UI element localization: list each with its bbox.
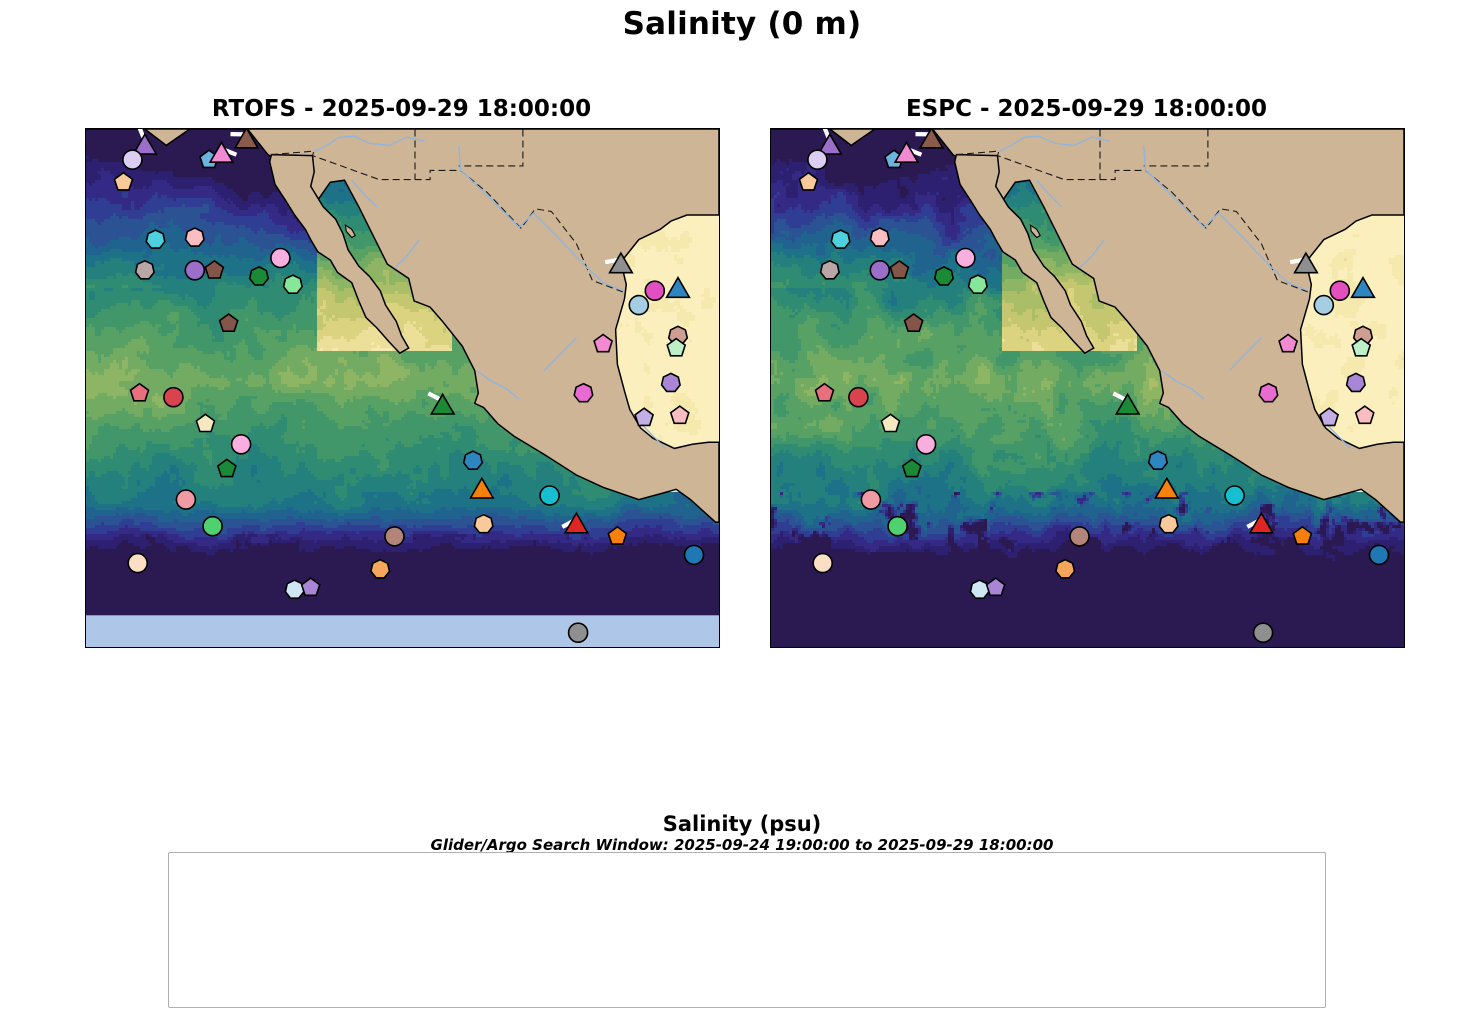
map-marker-4903743b[interactable]: [232, 435, 251, 454]
map-marker-4903516[interactable]: [385, 527, 404, 546]
map-marker-5907056[interactable]: [1225, 486, 1244, 505]
map-marker-4902328[interactable]: [250, 267, 269, 285]
panel-title-rtofs: RTOFS - 2025-09-29 18:00:00: [85, 96, 718, 122]
map-marker-4902475[interactable]: [969, 275, 988, 293]
panel-title-espc: ESPC - 2025-09-29 18:00:00: [770, 96, 1403, 122]
map-marker-2904010[interactable]: [629, 296, 648, 315]
colorbar: [104, 757, 1384, 789]
map-marker-3902386b[interactable]: [474, 515, 493, 533]
map-marker-4903195[interactable]: [870, 261, 889, 280]
map-marker-4903195[interactable]: [185, 261, 204, 280]
map-marker-4903181[interactable]: [849, 388, 868, 407]
map-marker-4903548[interactable]: [645, 281, 664, 300]
map-panel-rtofs[interactable]: [85, 128, 720, 648]
map-marker-1902692[interactable]: [685, 545, 704, 564]
map-marker-7901100[interactable]: [146, 230, 165, 248]
map-marker-4903184[interactable]: [861, 490, 880, 509]
colorbar-gradient: [104, 757, 1384, 789]
map-marker-4903551[interactable]: [574, 384, 593, 402]
map-marker-4903743[interactable]: [956, 249, 975, 268]
nodata-band: [86, 615, 719, 647]
map-marker-3902277[interactable]: [285, 580, 304, 598]
map-marker-4903743[interactable]: [271, 249, 290, 268]
map-marker-4903551[interactable]: [1259, 384, 1278, 402]
map-marker-4902328[interactable]: [935, 267, 954, 285]
map-marker-4903232b[interactable]: [1347, 373, 1366, 391]
map-marker-4903548[interactable]: [1330, 281, 1349, 300]
map-marker-2904010[interactable]: [1314, 296, 1333, 315]
map-marker-4903232b[interactable]: [662, 373, 681, 391]
figure-title: Salinity (0 m): [0, 6, 1484, 42]
map-marker-4903181[interactable]: [164, 388, 183, 407]
map-marker-4903185[interactable]: [186, 228, 205, 246]
map-field-rtofs: [86, 129, 719, 647]
map-marker-7901100[interactable]: [831, 230, 850, 248]
map-marker-5906090[interactable]: [569, 623, 588, 642]
colorbar-label: Salinity (psu): [0, 812, 1484, 836]
map-marker-1902692[interactable]: [1370, 545, 1389, 564]
map-marker-4902316[interactable]: [813, 554, 832, 573]
map-marker-5906183[interactable]: [821, 261, 840, 279]
marker-legend: [168, 852, 1326, 1008]
map-marker-4903743b[interactable]: [917, 435, 936, 454]
map-marker-4902333[interactable]: [203, 517, 222, 536]
map-marker-4903184[interactable]: [176, 490, 195, 509]
map-marker-4903294[interactable]: [808, 150, 827, 169]
map-marker-5906183[interactable]: [136, 261, 155, 279]
map-marker-4903516[interactable]: [1070, 527, 1089, 546]
map-marker-3902386b[interactable]: [1159, 515, 1178, 533]
map-marker-4903185[interactable]: [871, 228, 890, 246]
map-marker-4902316[interactable]: [128, 554, 147, 573]
map-marker-5907056[interactable]: [540, 486, 559, 505]
map-marker-3902375[interactable]: [371, 560, 390, 578]
map-panel-espc[interactable]: [770, 128, 1405, 648]
map-marker-4902475[interactable]: [284, 275, 303, 293]
map-marker-5906090[interactable]: [1254, 623, 1273, 642]
map-marker-2903857[interactable]: [464, 451, 483, 469]
map-marker-4903294[interactable]: [123, 150, 142, 169]
map-marker-3902277[interactable]: [970, 580, 989, 598]
map-marker-3902375[interactable]: [1056, 560, 1075, 578]
map-marker-4902333[interactable]: [888, 517, 907, 536]
map-field-espc: [771, 129, 1404, 647]
map-marker-2903857[interactable]: [1149, 451, 1168, 469]
